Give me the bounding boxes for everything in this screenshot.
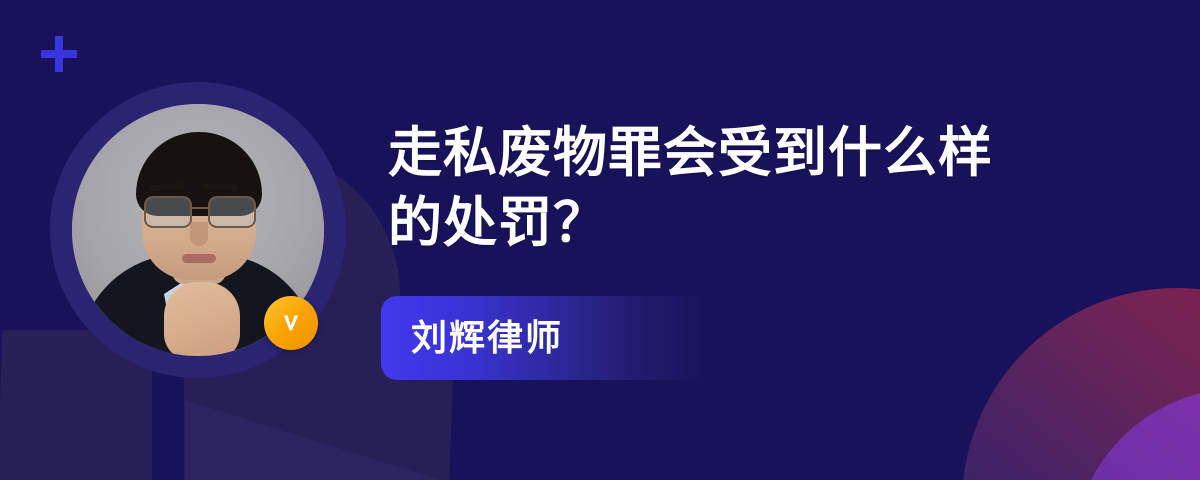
portrait-nose (190, 222, 208, 246)
verified-check-icon (264, 296, 318, 350)
glasses-lens-right (208, 196, 256, 228)
lawyer-name-button[interactable]: 刘辉律师 (381, 296, 707, 380)
plus-icon (41, 36, 77, 72)
r-monogram-leg (185, 400, 515, 480)
gradient-orb-outer-icon (962, 288, 1200, 480)
gradient-orb-inner-icon (1072, 388, 1200, 480)
portrait-hand (164, 282, 240, 356)
lawyer-qa-banner: 走私废物罪会受到什么样 的处罚？ 刘辉律师 (0, 0, 1200, 480)
lawyer-name-label: 刘辉律师 (411, 320, 563, 356)
glasses-bridge (190, 207, 210, 209)
page-title: 走私废物罪会受到什么样 的处罚？ (388, 118, 1088, 258)
glasses-lens-left (144, 196, 192, 228)
headline-block: 走私废物罪会受到什么样 的处罚？ (388, 118, 1088, 258)
portrait-mouth (182, 254, 216, 263)
